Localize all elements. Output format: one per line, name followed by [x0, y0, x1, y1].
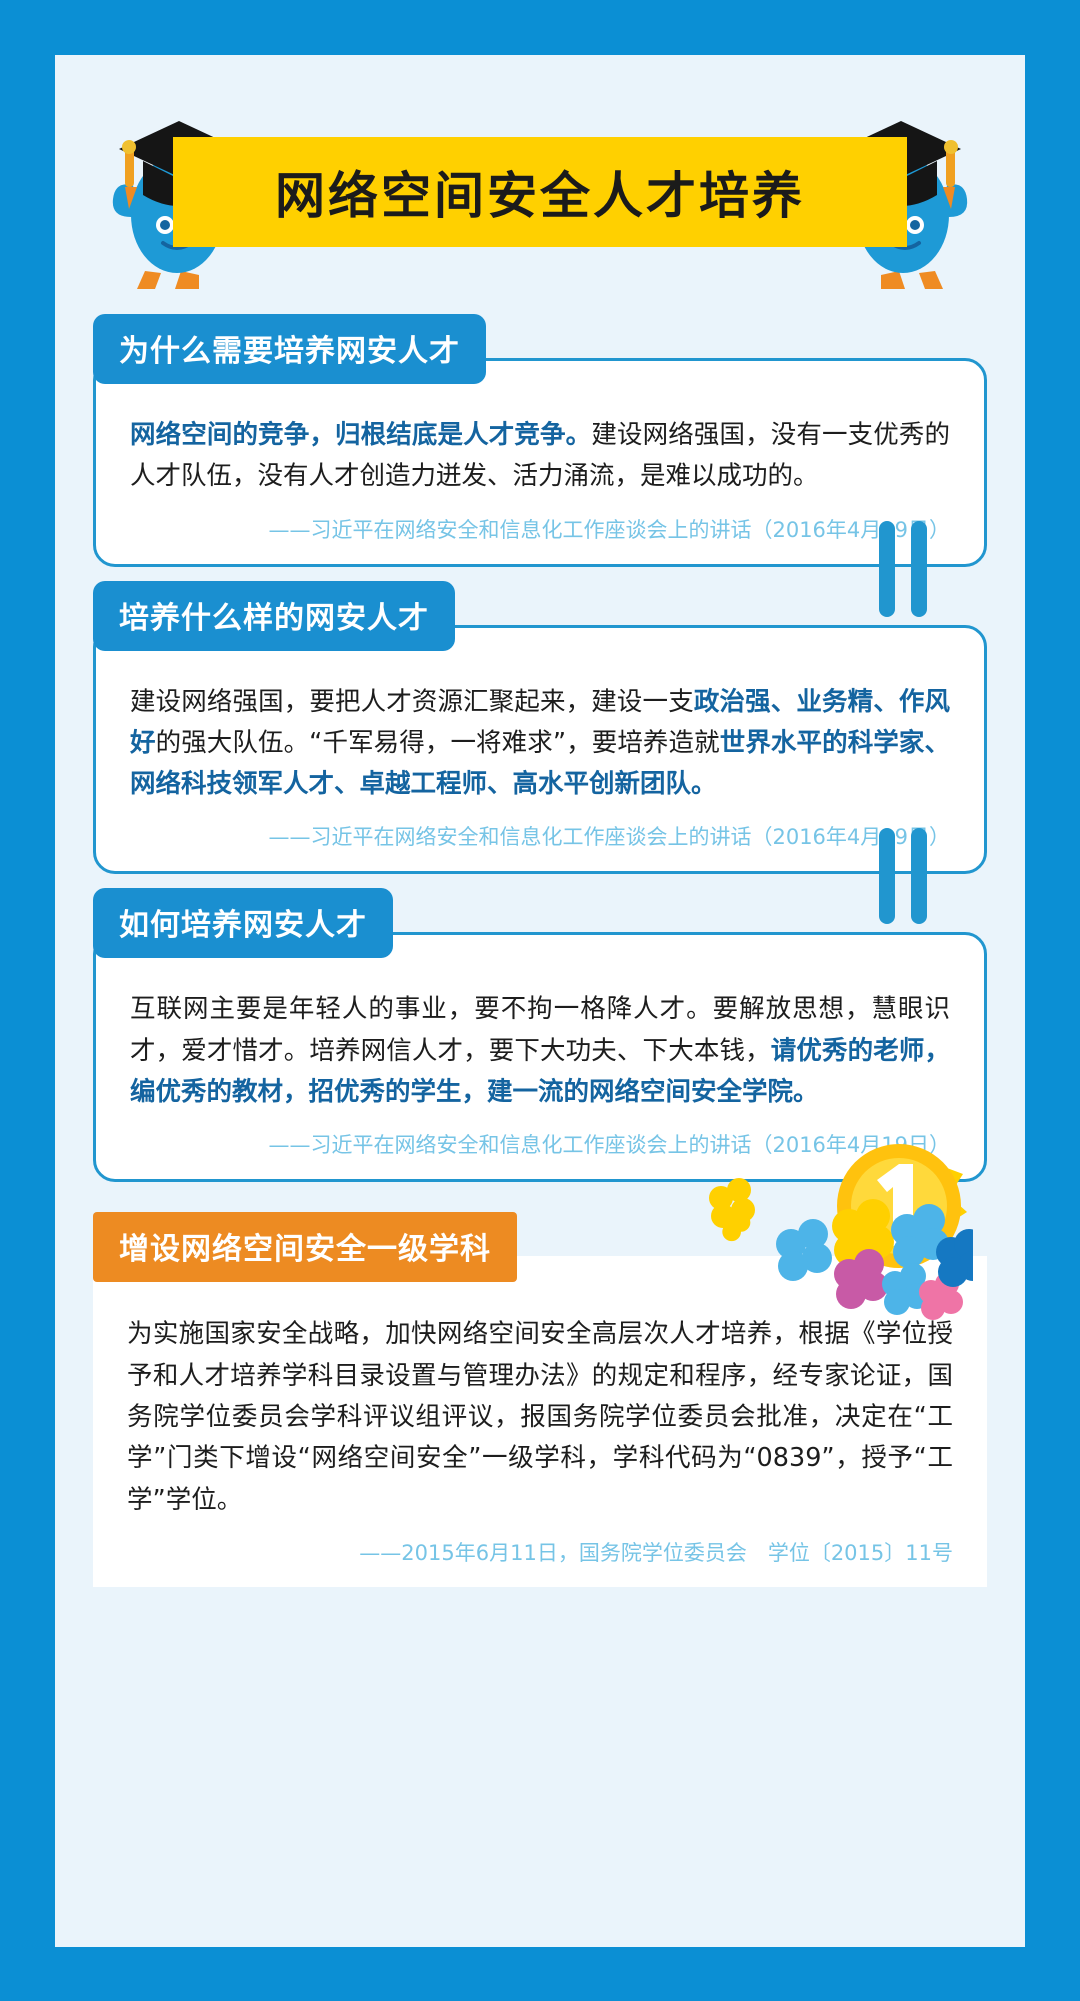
poster-frame: 网络空间安全人才培养 为什么需要培养网安人才 网络空间的竞争，归根结底是人才竞争… — [55, 55, 1025, 1947]
section-card-how: 互联网主要是年轻人的事业，要不拘一格降人才。要解放思想，慧眼识才，爱才惜才。培养… — [93, 932, 987, 1182]
section-body-new-discipline: 为实施国家安全战略，加快网络空间安全高层次人才培养，根据《学位授予和人才培养学科… — [127, 1314, 953, 1520]
section-attribution-what-kind: ——习近平在网络安全和信息化工作座谈会上的讲话（2016年4月19日） — [130, 821, 950, 851]
section-new-discipline: 增设网络空间安全一级学科 为实施国家安全战略，加快网络空间安全高层次人才培养，根… — [93, 1212, 987, 1586]
section-heading-how[interactable]: 如何培养网安人才 — [93, 888, 393, 958]
section-card-new-discipline: 为实施国家安全战略，加快网络空间安全高层次人才培养，根据《学位授予和人才培养学科… — [93, 1256, 987, 1586]
section-card-what-kind: 建设网络强国，要把人才资源汇聚起来，建设一支政治强、业务精、作风好的强大队伍。“… — [93, 625, 987, 875]
section-lead-why: 网络空间的竞争，归根结底是人才竞争。 — [130, 420, 591, 450]
page-title: 网络空间安全人才培养 — [275, 156, 805, 228]
wk-p2: 的强大队伍。“千军易得，一将难求”，要培养造就 — [156, 728, 720, 758]
section-heading-new-discipline[interactable]: 增设网络空间安全一级学科 — [93, 1212, 517, 1282]
section-attribution-why: ——习近平在网络安全和信息化工作座谈会上的讲话（2016年4月19日） — [130, 514, 950, 544]
connector-bars-1 — [879, 521, 935, 617]
wk-p1: 建设网络强国，要把人才资源汇聚起来，建设一支 — [130, 687, 694, 717]
section-card-why: 网络空间的竞争，归根结底是人才竞争。建设网络强国，没有一支优秀的人才队伍，没有人… — [93, 358, 987, 567]
sections-container: 为什么需要培养网安人才 网络空间的竞争，归根结底是人才竞争。建设网络强国，没有一… — [55, 300, 1025, 1587]
section-body-how: 互联网主要是年轻人的事业，要不拘一格降人才。要解放思想，慧眼识才，爱才惜才。培养… — [130, 989, 950, 1113]
section-why: 为什么需要培养网安人才 网络空间的竞争，归根结底是人才竞争。建设网络强国，没有一… — [93, 314, 987, 567]
poster-title-banner: 网络空间安全人才培养 — [173, 137, 907, 247]
poster-header: 网络空间安全人才培养 — [55, 85, 1025, 300]
section-body-what-kind: 建设网络强国，要把人才资源汇聚起来，建设一支政治强、业务精、作风好的强大队伍。“… — [130, 682, 950, 806]
section-how: 如何培养网安人才 互联网主要是年轻人的事业，要不拘一格降人才。要解放思想，慧眼识… — [93, 888, 987, 1182]
section-body-why: 网络空间的竞争，归根结底是人才竞争。建设网络强国，没有一支优秀的人才队伍，没有人… — [130, 415, 950, 498]
connector-bars-2 — [879, 828, 935, 924]
section-heading-what-kind[interactable]: 培养什么样的网安人才 — [93, 581, 455, 651]
section-attribution-new-discipline: ——2015年6月11日，国务院学位委员会 学位〔2015〕11号 — [127, 1537, 953, 1567]
section-attribution-how: ——习近平在网络安全和信息化工作座谈会上的讲话（2016年4月19日） — [130, 1129, 950, 1159]
section-heading-why[interactable]: 为什么需要培养网安人才 — [93, 314, 486, 384]
section-what-kind: 培养什么样的网安人才 建设网络强国，要把人才资源汇聚起来，建设一支政治强、业务精… — [93, 581, 987, 875]
